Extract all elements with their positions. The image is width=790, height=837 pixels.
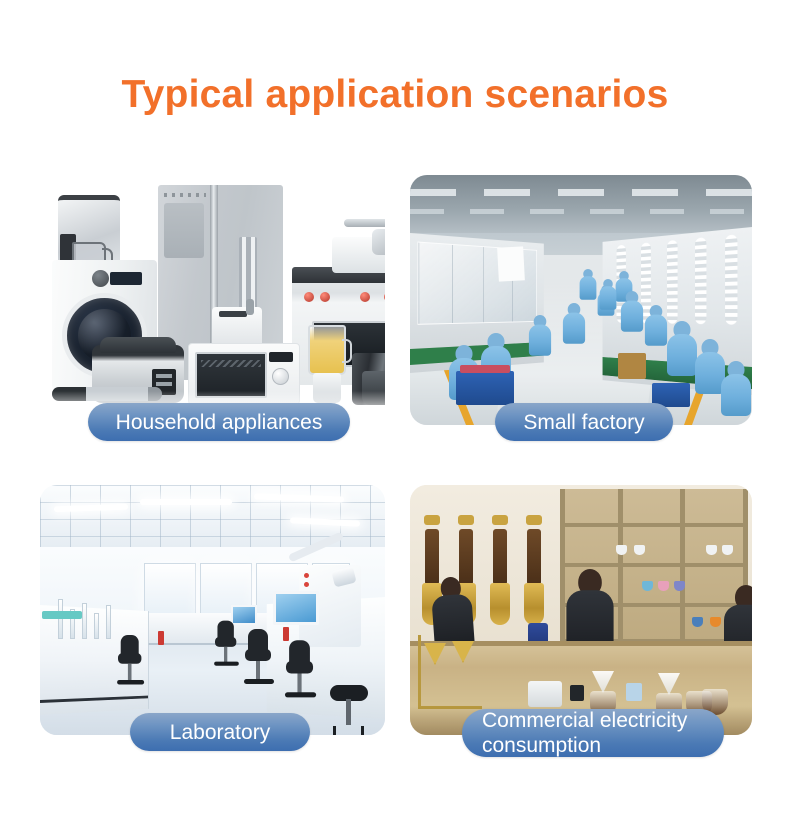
shelf-cup xyxy=(634,545,645,555)
scenario-label-commercial-electricity[interactable]: Commercial electricity consumption xyxy=(462,709,724,757)
coffee-grinder-icon xyxy=(490,529,510,637)
shelf-cup xyxy=(674,581,685,591)
scenario-card-household-appliances[interactable] xyxy=(40,175,385,425)
posted-document xyxy=(497,246,525,281)
scenario-label-text-block: Commercial electricity consumption xyxy=(482,708,687,758)
scenario-card-laboratory[interactable] xyxy=(40,485,385,735)
scenario-label-small-factory[interactable]: Small factory xyxy=(495,403,673,441)
fridge-dispenser-icon xyxy=(164,203,204,258)
fridge-vent-icon xyxy=(164,193,206,197)
page-root: Typical application scenarios xyxy=(0,0,790,837)
parts-crate xyxy=(456,371,514,405)
washer-display-icon xyxy=(110,272,142,285)
scenario-label-text: Household appliances xyxy=(116,410,323,435)
wooden-stool xyxy=(618,353,646,379)
lab-monitor xyxy=(231,605,257,625)
scenario-card-small-factory[interactable] xyxy=(410,175,752,425)
scenario-label-household-appliances[interactable]: Household appliances xyxy=(88,403,350,441)
oven-knobs-icon xyxy=(292,289,385,305)
washer-knob-icon xyxy=(92,270,109,287)
commercial-electricity-photo xyxy=(410,485,752,735)
shelf-cup xyxy=(642,581,653,591)
ceiling-light xyxy=(140,499,232,505)
lab-reagent-tray xyxy=(42,611,82,619)
scenario-label-laboratory[interactable]: Laboratory xyxy=(130,713,310,751)
lab-stool xyxy=(330,685,368,701)
factory-illustration xyxy=(410,175,752,425)
shelf-cup xyxy=(616,545,627,555)
household-appliances-photo xyxy=(40,175,385,425)
counter-cup xyxy=(626,683,642,701)
scenario-card-grid: Household appliances xyxy=(0,0,790,837)
coffee-shop-illustration xyxy=(410,485,752,735)
shelf-cup xyxy=(710,617,721,627)
appliances-illustration xyxy=(40,175,385,425)
counter-appliance xyxy=(570,685,584,701)
small-factory-photo xyxy=(410,175,752,425)
laboratory-photo xyxy=(40,485,385,735)
lab-monitor xyxy=(273,591,319,625)
assembly-bench-left xyxy=(410,233,544,373)
shelf-cup xyxy=(658,581,669,591)
scenario-card-commercial-electricity[interactable] xyxy=(410,485,752,735)
counter-appliance xyxy=(528,681,562,707)
scenario-label-line-2: consumption xyxy=(482,733,687,758)
coffee-grinder-icon xyxy=(524,529,544,637)
shelf-cup xyxy=(692,617,703,627)
shelf-cup xyxy=(722,545,733,555)
scenario-label-text: Laboratory xyxy=(170,720,270,745)
lab-reagent-bottle xyxy=(158,631,164,645)
factory-ceiling xyxy=(410,175,752,233)
scenario-label-line-1: Commercial electricity xyxy=(482,708,687,733)
shelf-cup xyxy=(706,545,717,555)
scenario-label-text: Small factory xyxy=(523,410,644,435)
meat-grinder-icon xyxy=(332,215,385,273)
laboratory-illustration xyxy=(40,485,385,735)
lab-reagent-bottle xyxy=(283,627,289,641)
washer-panel-icon xyxy=(60,266,148,286)
